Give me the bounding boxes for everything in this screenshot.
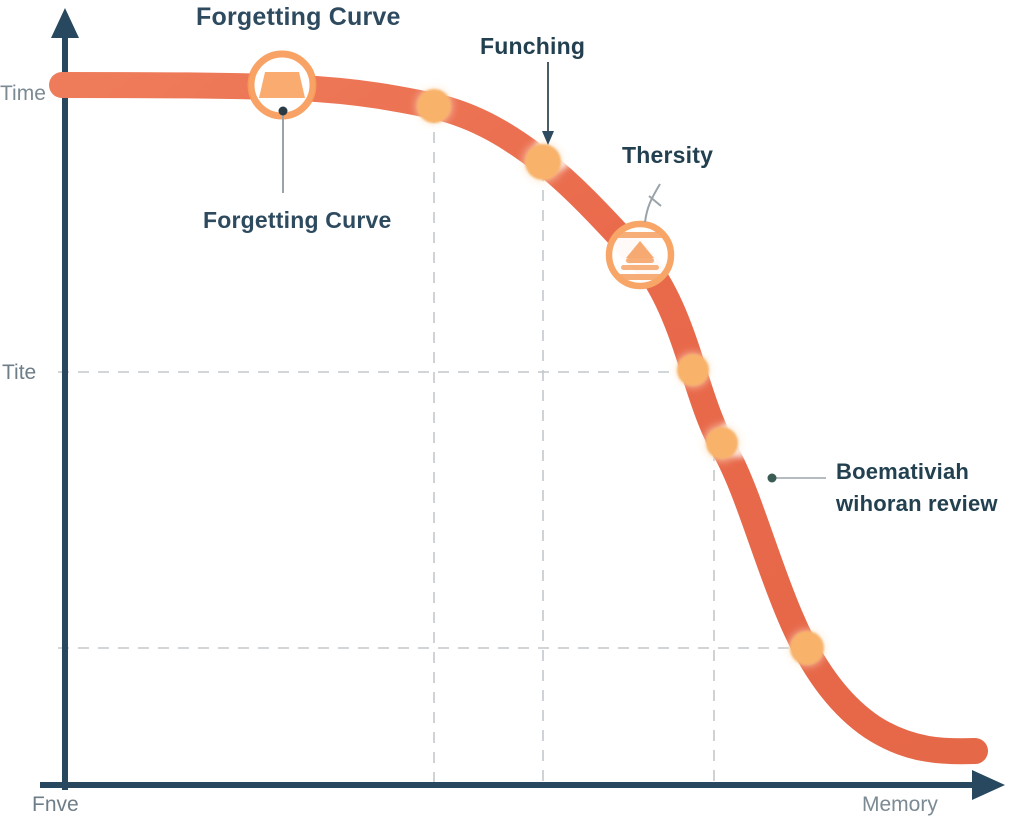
data-point-marker[interactable] — [785, 626, 829, 670]
forgetting-curve-line — [62, 85, 975, 751]
x-axis-tick-right: Memory — [862, 793, 938, 817]
curve-path — [62, 85, 975, 751]
axes — [40, 8, 1005, 800]
data-point-marker[interactable] — [412, 84, 456, 128]
x-axis-arrowhead — [972, 770, 1005, 800]
curve-markers — [249, 52, 829, 670]
gridlines — [58, 112, 810, 790]
x-axis-tick-left: Fnve — [32, 793, 79, 817]
leader-dot-note — [768, 474, 777, 483]
icon-marker-pyramid[interactable] — [606, 221, 674, 289]
chart-canvas — [0, 0, 1024, 818]
leader-dot-forgetting — [279, 107, 288, 116]
y-axis-arrowhead — [51, 8, 79, 38]
data-point-marker[interactable] — [672, 349, 714, 391]
trapezoid-icon — [259, 72, 305, 98]
y-axis-tick-mid: Tite — [2, 361, 36, 385]
forgetting-curve-chart: Forgetting Curve Funching Thersity Forge… — [0, 0, 1024, 818]
y-axis-tick-top: Time — [0, 82, 46, 106]
